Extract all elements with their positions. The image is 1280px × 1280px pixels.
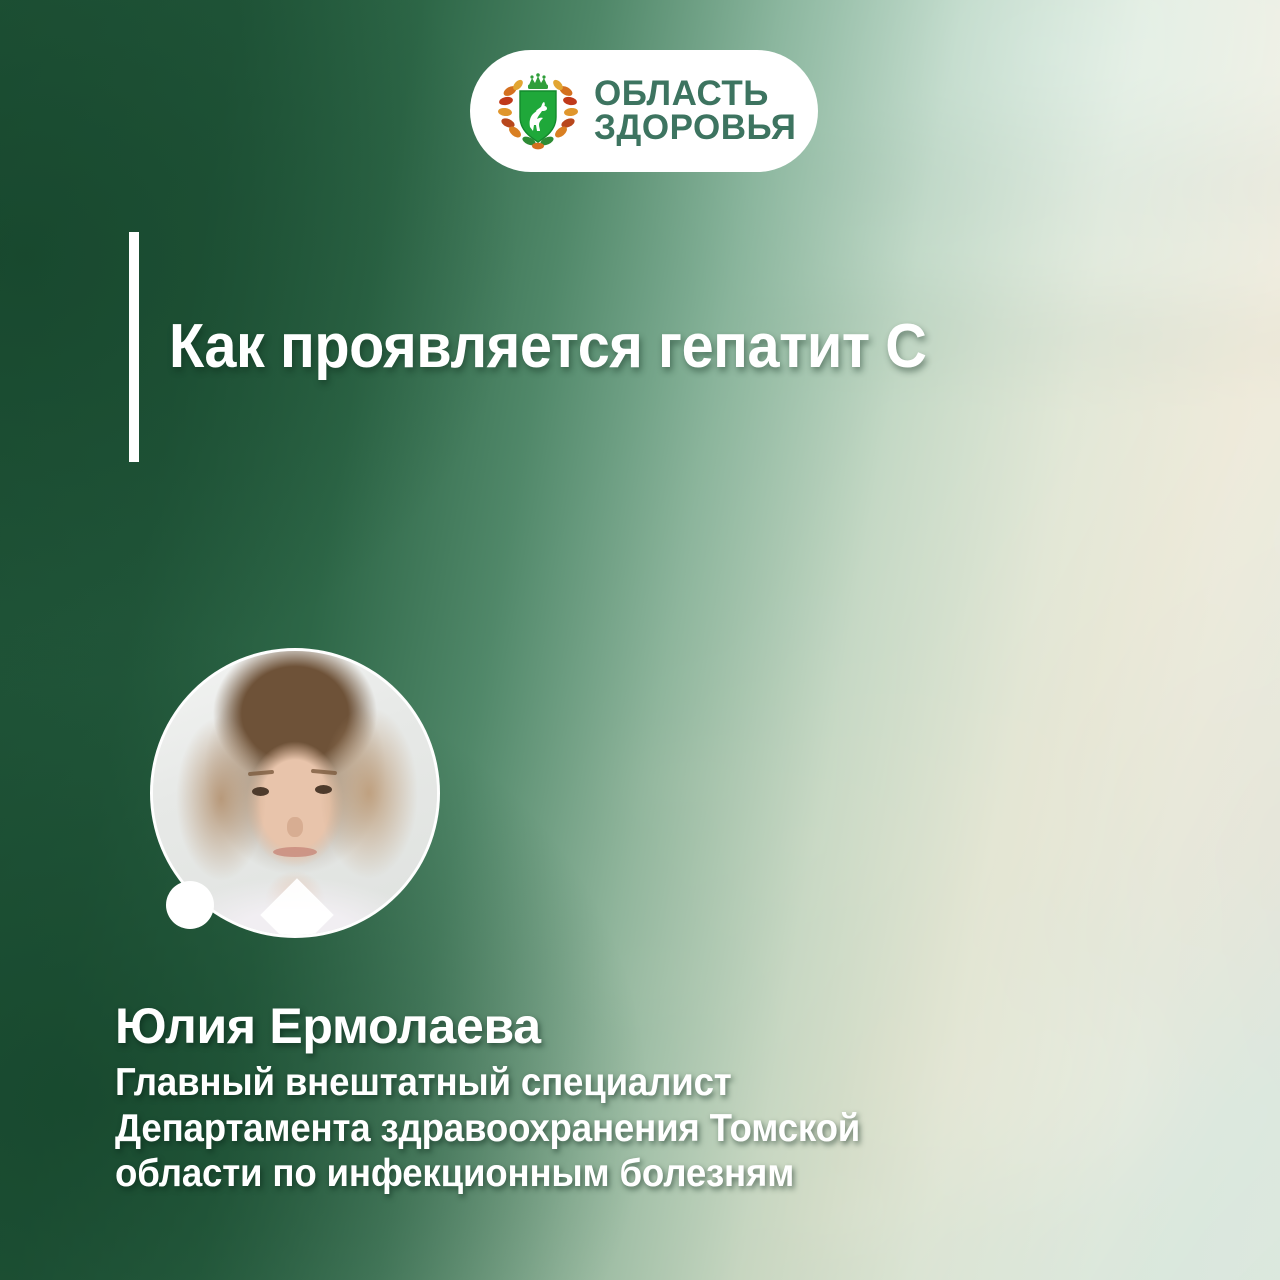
speaker-role-line-3: области по инфекционным болезням — [115, 1151, 1055, 1197]
avatar-brow-right — [311, 769, 337, 775]
headline-block: Как проявляется гепатит С — [129, 232, 983, 462]
brand-logo-text: ОБЛАСТЬ ЗДОРОВЬЯ — [594, 77, 796, 144]
speaker-role-line-2: Департамента здравоохранения Томской — [115, 1106, 1055, 1152]
avatar-collar — [260, 878, 334, 938]
page-title: Как проявляется гепатит С — [169, 315, 926, 379]
tomsk-oblast-coat-of-arms-icon — [496, 67, 580, 155]
speaker-name: Юлия Ермолаева — [115, 1000, 1115, 1052]
avatar-accent-dot — [166, 881, 214, 929]
poster-canvas: ОБЛАСТЬ ЗДОРОВЬЯ Как проявляется гепатит… — [0, 0, 1280, 1280]
avatar-eye-left — [252, 787, 269, 796]
avatar-eye-right — [315, 785, 332, 794]
speaker-role: Главный внештатный специалист Департамен… — [115, 1060, 1055, 1197]
headline-accent-rule — [129, 232, 139, 462]
speaker-role-line-1: Главный внештатный специалист — [115, 1060, 1055, 1106]
brand-logo[interactable]: ОБЛАСТЬ ЗДОРОВЬЯ — [470, 50, 818, 172]
speaker-credit: Юлия Ермолаева Главный внештатный специа… — [115, 1000, 1115, 1197]
brand-logo-line2: ЗДОРОВЬЯ — [594, 111, 796, 145]
avatar-brow-left — [248, 770, 274, 776]
avatar-lips — [273, 847, 317, 857]
avatar-nose — [287, 817, 303, 837]
brand-logo-line1: ОБЛАСТЬ — [594, 77, 796, 111]
